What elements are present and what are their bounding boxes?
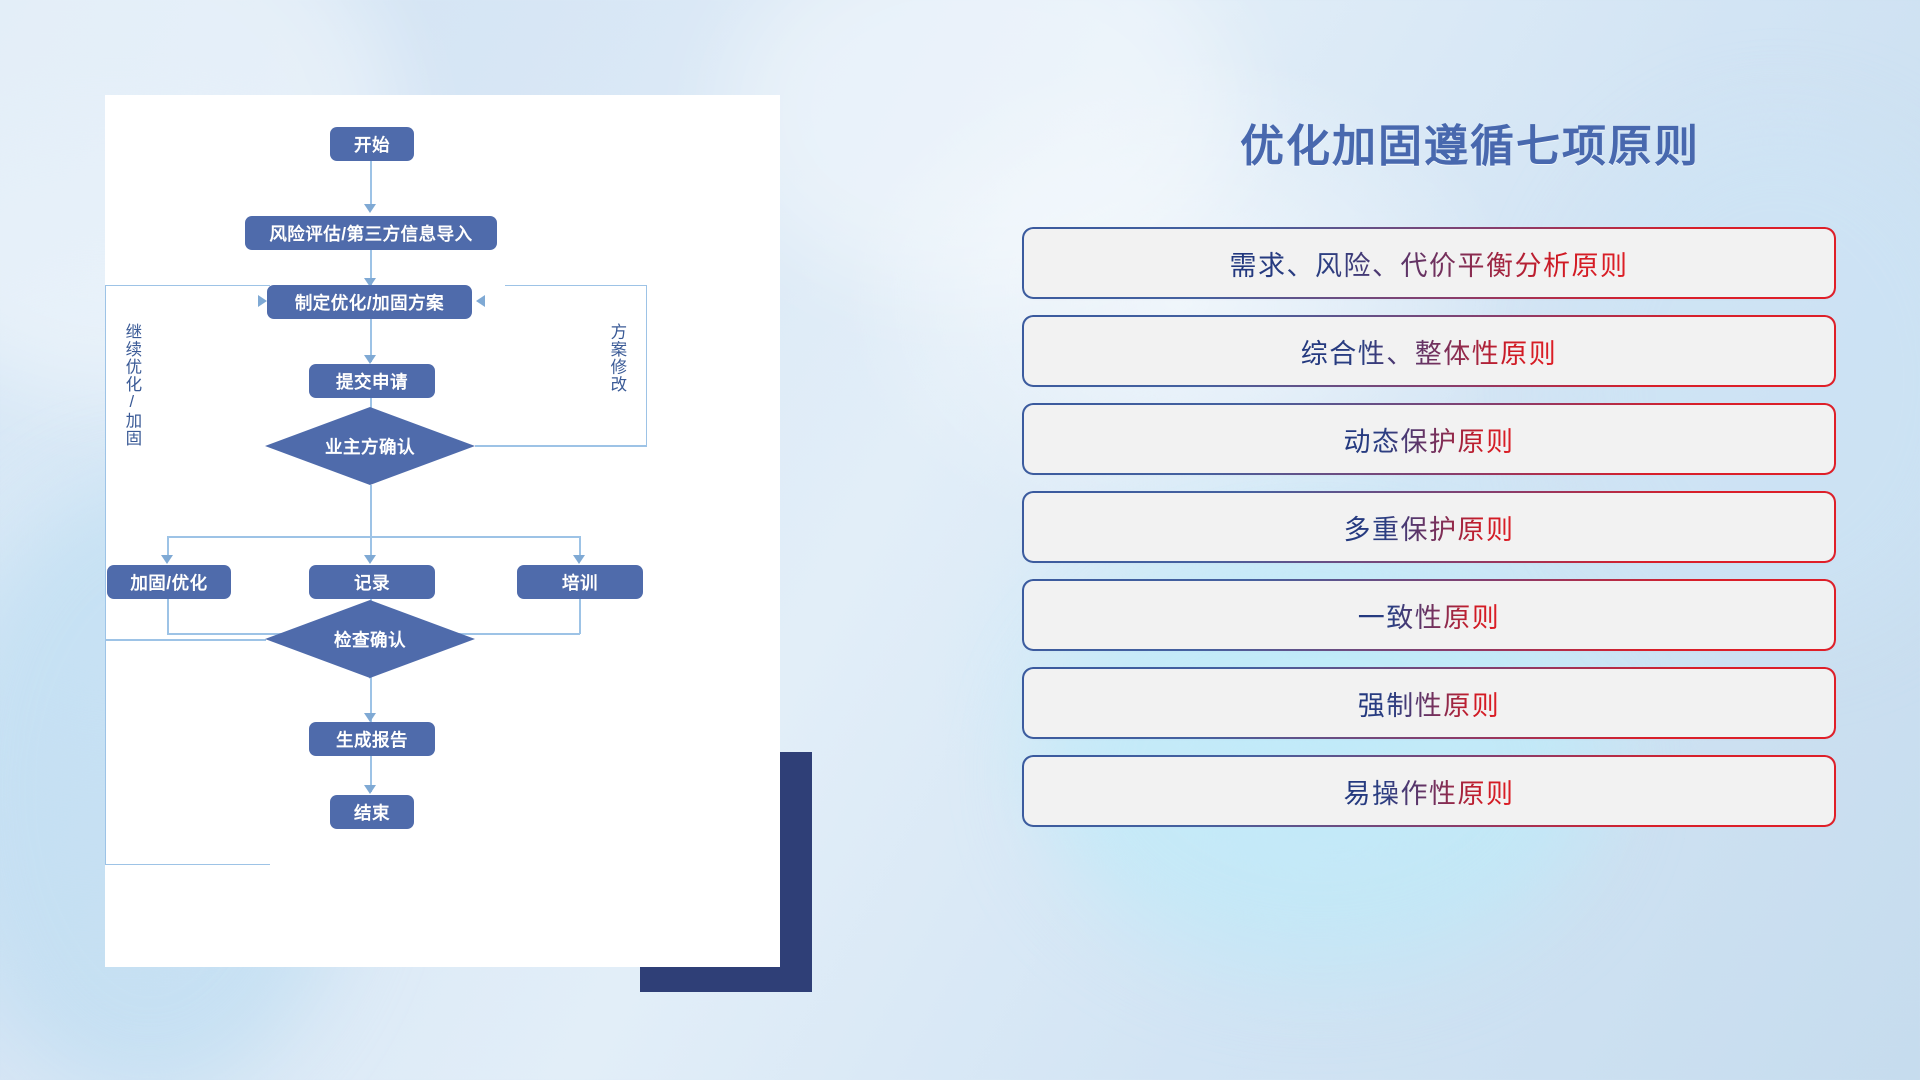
principle-card-2[interactable]: 综合性、整体性原则	[1024, 317, 1834, 385]
arrow-start-to-risk	[364, 204, 376, 213]
flow-node-submit[interactable]: 提交申请	[309, 364, 435, 398]
arrow-to-reinforce	[161, 555, 173, 564]
flow-node-plan[interactable]: 制定优化/加固方案	[267, 285, 472, 319]
principle-label: 强制性原则	[1358, 684, 1501, 723]
edge-label-right-loop: 方案修改	[608, 323, 625, 423]
connector-owner-to-rightloop	[475, 445, 647, 447]
flow-node-start[interactable]: 开始	[330, 127, 414, 161]
flow-node-end-label: 结束	[354, 800, 390, 825]
principle-card-6[interactable]: 强制性原则	[1024, 669, 1834, 737]
flowchart-canvas: 开始 风险评估/第三方信息导入 制定优化/加固方案 提交申请	[105, 95, 780, 967]
flow-node-risk-assessment-label: 风险评估/第三方信息导入	[269, 221, 472, 246]
arrow-rightloop-to-plan	[476, 295, 485, 307]
page-title: 优化加固遵循七项原则	[1150, 110, 1790, 174]
edge-label-left-loop: 继续优化/加固	[123, 323, 140, 463]
flow-node-record-label: 记录	[354, 570, 390, 595]
flow-node-risk-assessment[interactable]: 风险评估/第三方信息导入	[245, 216, 497, 250]
arrow-inspect-to-report	[364, 713, 376, 722]
arrow-leftloop-to-plan	[258, 295, 267, 307]
principles-list: 需求、风险、代价平衡分析原则 综合性、整体性原则 动态保护原则 多重保护原则 一…	[1024, 229, 1834, 845]
flow-node-report-label: 生成报告	[336, 727, 408, 752]
merge-rise-training	[579, 599, 581, 634]
bus-fanout-top	[167, 536, 580, 538]
principle-label: 易操作性原则	[1344, 772, 1515, 811]
flow-node-training-label: 培训	[562, 570, 598, 595]
principle-card-4[interactable]: 多重保护原则	[1024, 493, 1834, 561]
arrow-report-to-end	[364, 785, 376, 794]
principle-label: 一致性原则	[1358, 596, 1501, 635]
flow-node-record[interactable]: 记录	[309, 565, 435, 599]
flow-node-reinforce-label: 加固/优化	[130, 570, 207, 595]
arrow-to-record	[364, 555, 376, 564]
flow-node-inspect-confirm-real[interactable]: 检查确认	[265, 600, 475, 678]
flow-node-plan-label: 制定优化/加固方案	[295, 290, 444, 315]
flowchart-card: 开始 风险评估/第三方信息导入 制定优化/加固方案 提交申请	[105, 95, 780, 967]
flow-node-reinforce[interactable]: 加固/优化	[107, 565, 231, 599]
flow-node-submit-label: 提交申请	[336, 369, 408, 394]
principle-label: 需求、风险、代价平衡分析原则	[1230, 244, 1629, 283]
connector-inspect-to-leftloop	[105, 639, 266, 641]
principle-card-7[interactable]: 易操作性原则	[1024, 757, 1834, 825]
flow-node-owner-confirm-label: 业主方确认	[265, 407, 475, 485]
arrow-plan-to-submit	[364, 355, 376, 364]
principle-card-5[interactable]: 一致性原则	[1024, 581, 1834, 649]
principle-card-3[interactable]: 动态保护原则	[1024, 405, 1834, 473]
principle-card-1[interactable]: 需求、风险、代价平衡分析原则	[1024, 229, 1834, 297]
flow-node-training[interactable]: 培训	[517, 565, 643, 599]
principles-pane: 优化加固遵循七项原则 需求、风险、代价平衡分析原则 综合性、整体性原则 动态保护…	[1000, 0, 1920, 1080]
flow-node-owner-confirm[interactable]: 业主方确认	[265, 407, 475, 485]
flow-node-start-label: 开始	[354, 132, 390, 157]
merge-rise-reinforce	[167, 599, 169, 634]
connector-start-to-risk	[370, 161, 372, 207]
principle-label: 多重保护原则	[1344, 508, 1515, 547]
connector-owner-down	[370, 485, 372, 537]
flow-node-inspect-confirm-label: 检查确认	[265, 600, 475, 678]
flow-node-report[interactable]: 生成报告	[309, 722, 435, 756]
principle-label: 动态保护原则	[1344, 420, 1515, 459]
arrow-to-training	[573, 555, 585, 564]
principle-label: 综合性、整体性原则	[1301, 332, 1558, 371]
flow-node-end[interactable]: 结束	[330, 795, 414, 829]
